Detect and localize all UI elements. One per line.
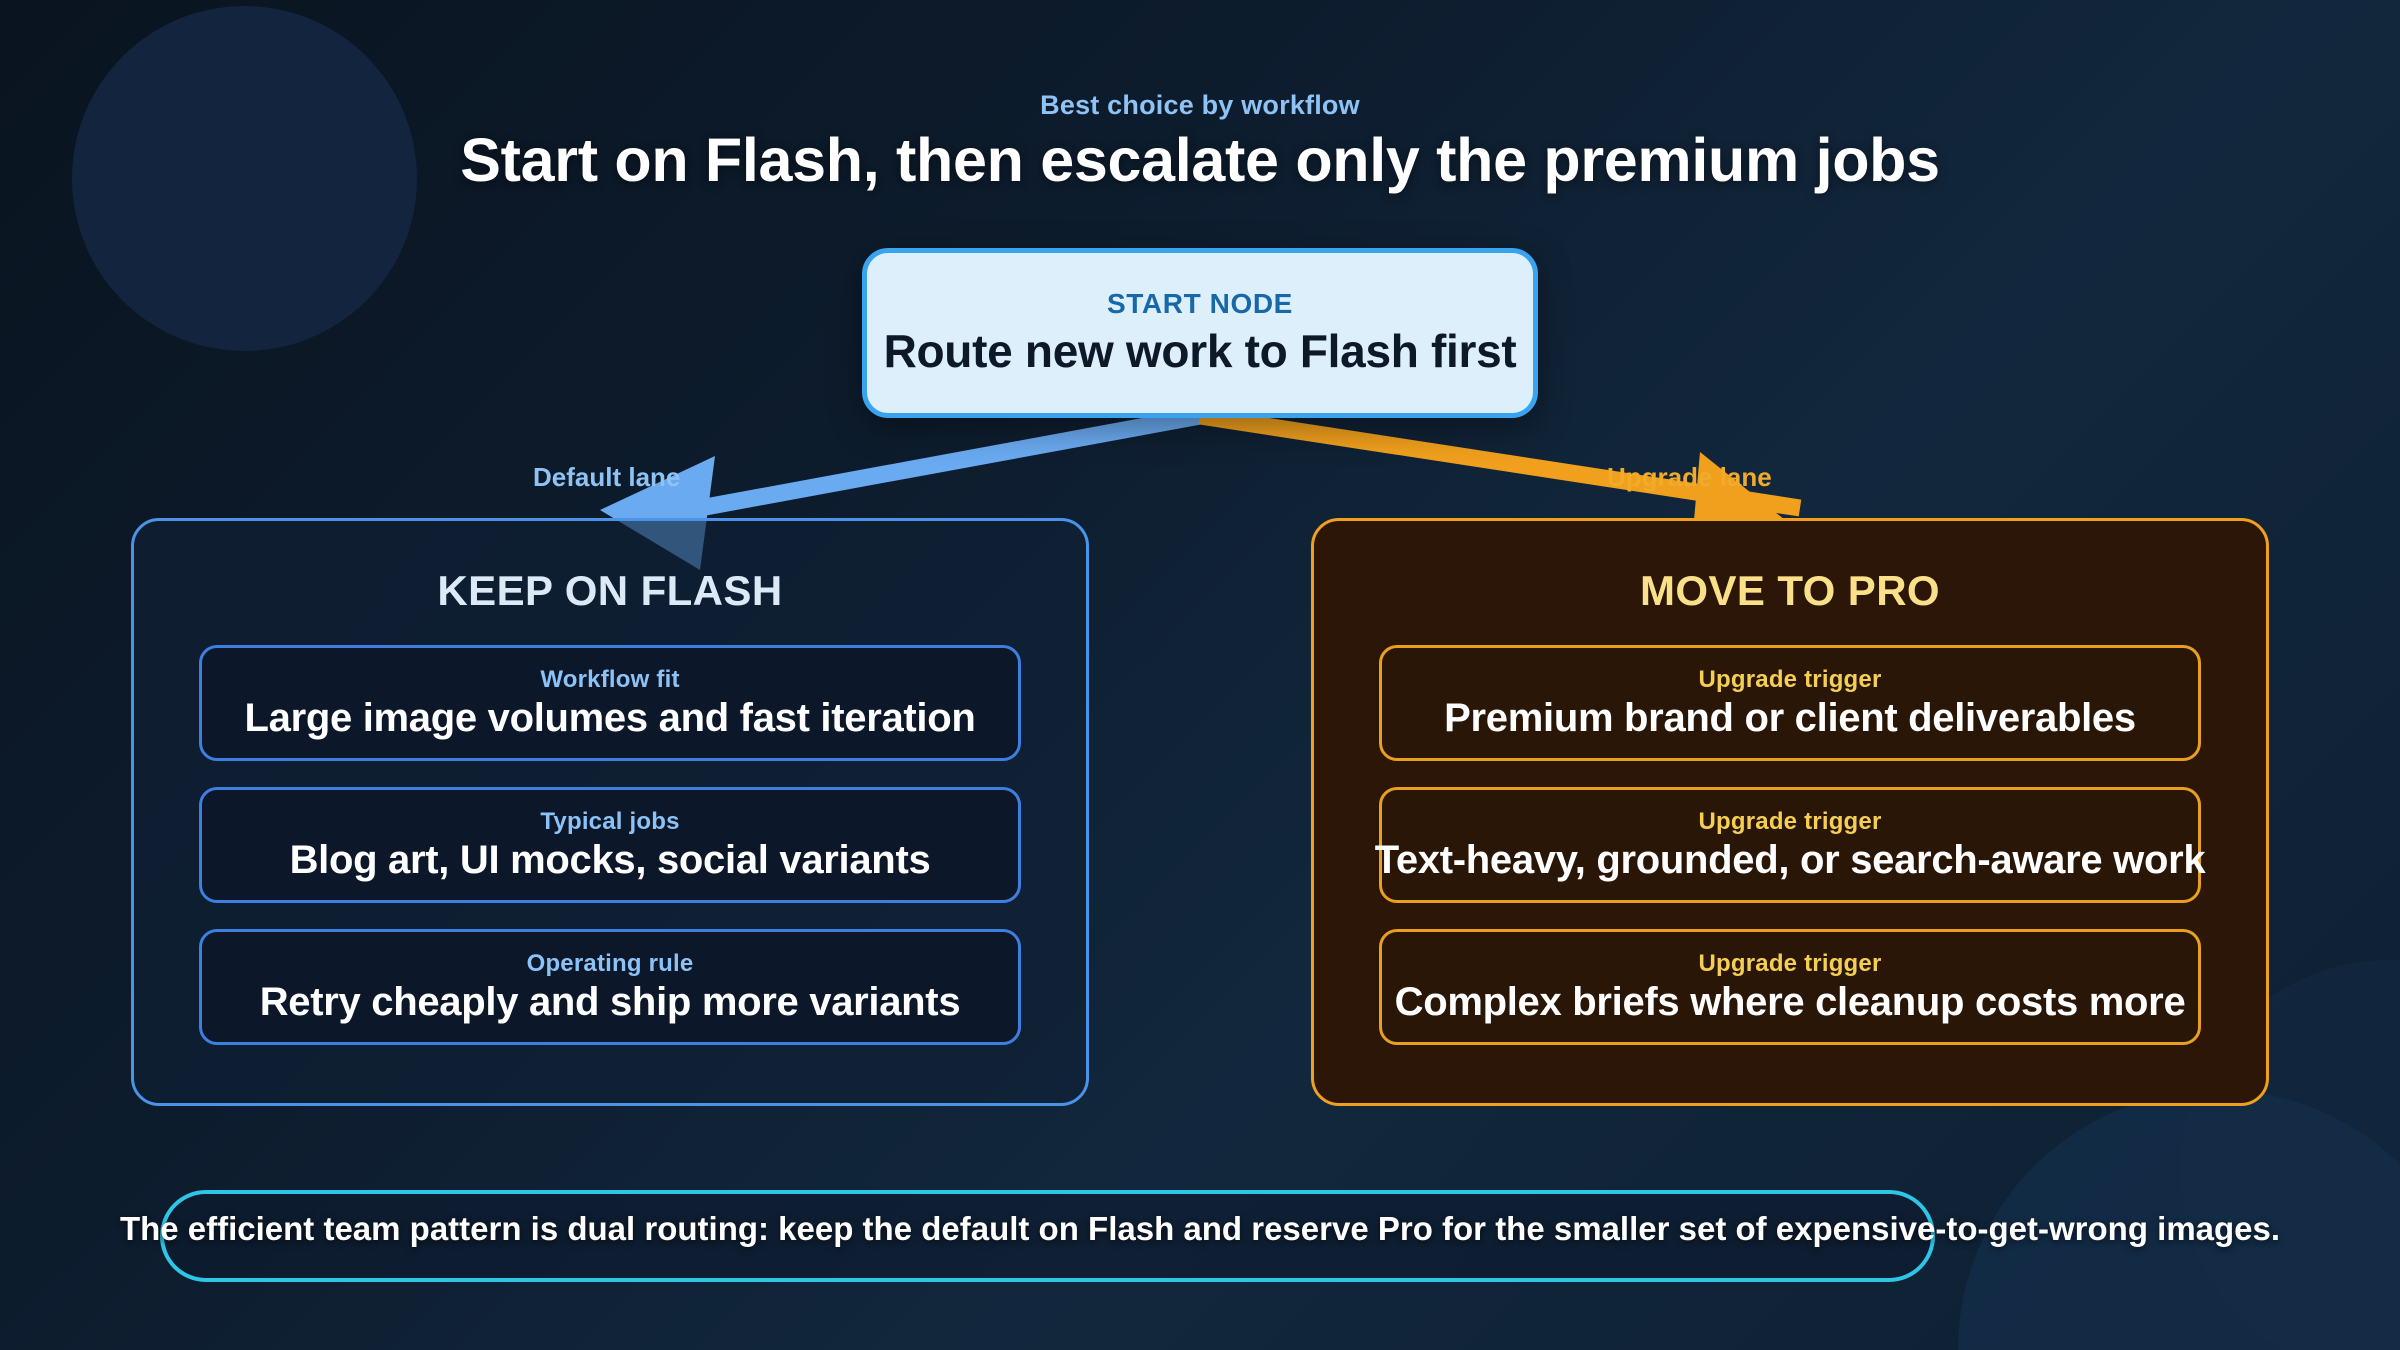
card[interactable]: Typical jobsBlog art, UI mocks, social v… — [199, 787, 1021, 903]
card-list-pro: Upgrade triggerPremium brand or client d… — [1314, 645, 2266, 1045]
header-eyebrow: Best choice by workflow — [0, 90, 2400, 121]
start-node-kicker: START NODE — [1107, 288, 1293, 320]
panel-move-to-pro[interactable]: MOVE TO PRO Upgrade triggerPremium brand… — [1311, 518, 2269, 1106]
card-kicker: Upgrade trigger — [1698, 808, 1881, 836]
card[interactable]: Upgrade triggerComplex briefs where clea… — [1379, 929, 2201, 1045]
panel-keep-on-flash[interactable]: KEEP ON FLASH Workflow fitLarge image vo… — [131, 518, 1089, 1106]
lane-label-upgrade: Upgrade lane — [1607, 462, 1772, 493]
card-value: Retry cheaply and ship more variants — [260, 980, 961, 1025]
card-value: Complex briefs where cleanup costs more — [1395, 980, 2186, 1025]
card-kicker: Upgrade trigger — [1698, 950, 1881, 978]
card-kicker: Typical jobs — [540, 808, 679, 836]
start-node-title: Route new work to Flash first — [884, 324, 1517, 378]
card-kicker: Upgrade trigger — [1698, 666, 1881, 694]
start-node[interactable]: START NODE Route new work to Flash first — [862, 248, 1538, 418]
slide-canvas: Best choice by workflow Start on Flash, … — [0, 0, 2400, 1350]
card[interactable]: Operating ruleRetry cheaply and ship mor… — [199, 929, 1021, 1045]
card-list-flash: Workflow fitLarge image volumes and fast… — [134, 645, 1086, 1045]
card[interactable]: Workflow fitLarge image volumes and fast… — [199, 645, 1021, 761]
card-kicker: Operating rule — [527, 950, 694, 978]
card-value: Blog art, UI mocks, social variants — [290, 838, 931, 883]
card[interactable]: Upgrade triggerText-heavy, grounded, or … — [1379, 787, 2201, 903]
card[interactable]: Upgrade triggerPremium brand or client d… — [1379, 645, 2201, 761]
footer-text: The efficient team pattern is dual routi… — [0, 1210, 2400, 1248]
card-kicker: Workflow fit — [540, 666, 679, 694]
panel-heading-flash: KEEP ON FLASH — [437, 567, 782, 615]
lane-label-default: Default lane — [533, 462, 680, 493]
page-title: Start on Flash, then escalate only the p… — [0, 125, 2400, 195]
card-value: Text-heavy, grounded, or search-aware wo… — [1375, 838, 2206, 883]
card-value: Premium brand or client deliverables — [1444, 696, 2136, 741]
card-value: Large image volumes and fast iteration — [244, 696, 975, 741]
panel-heading-pro: MOVE TO PRO — [1640, 567, 1940, 615]
